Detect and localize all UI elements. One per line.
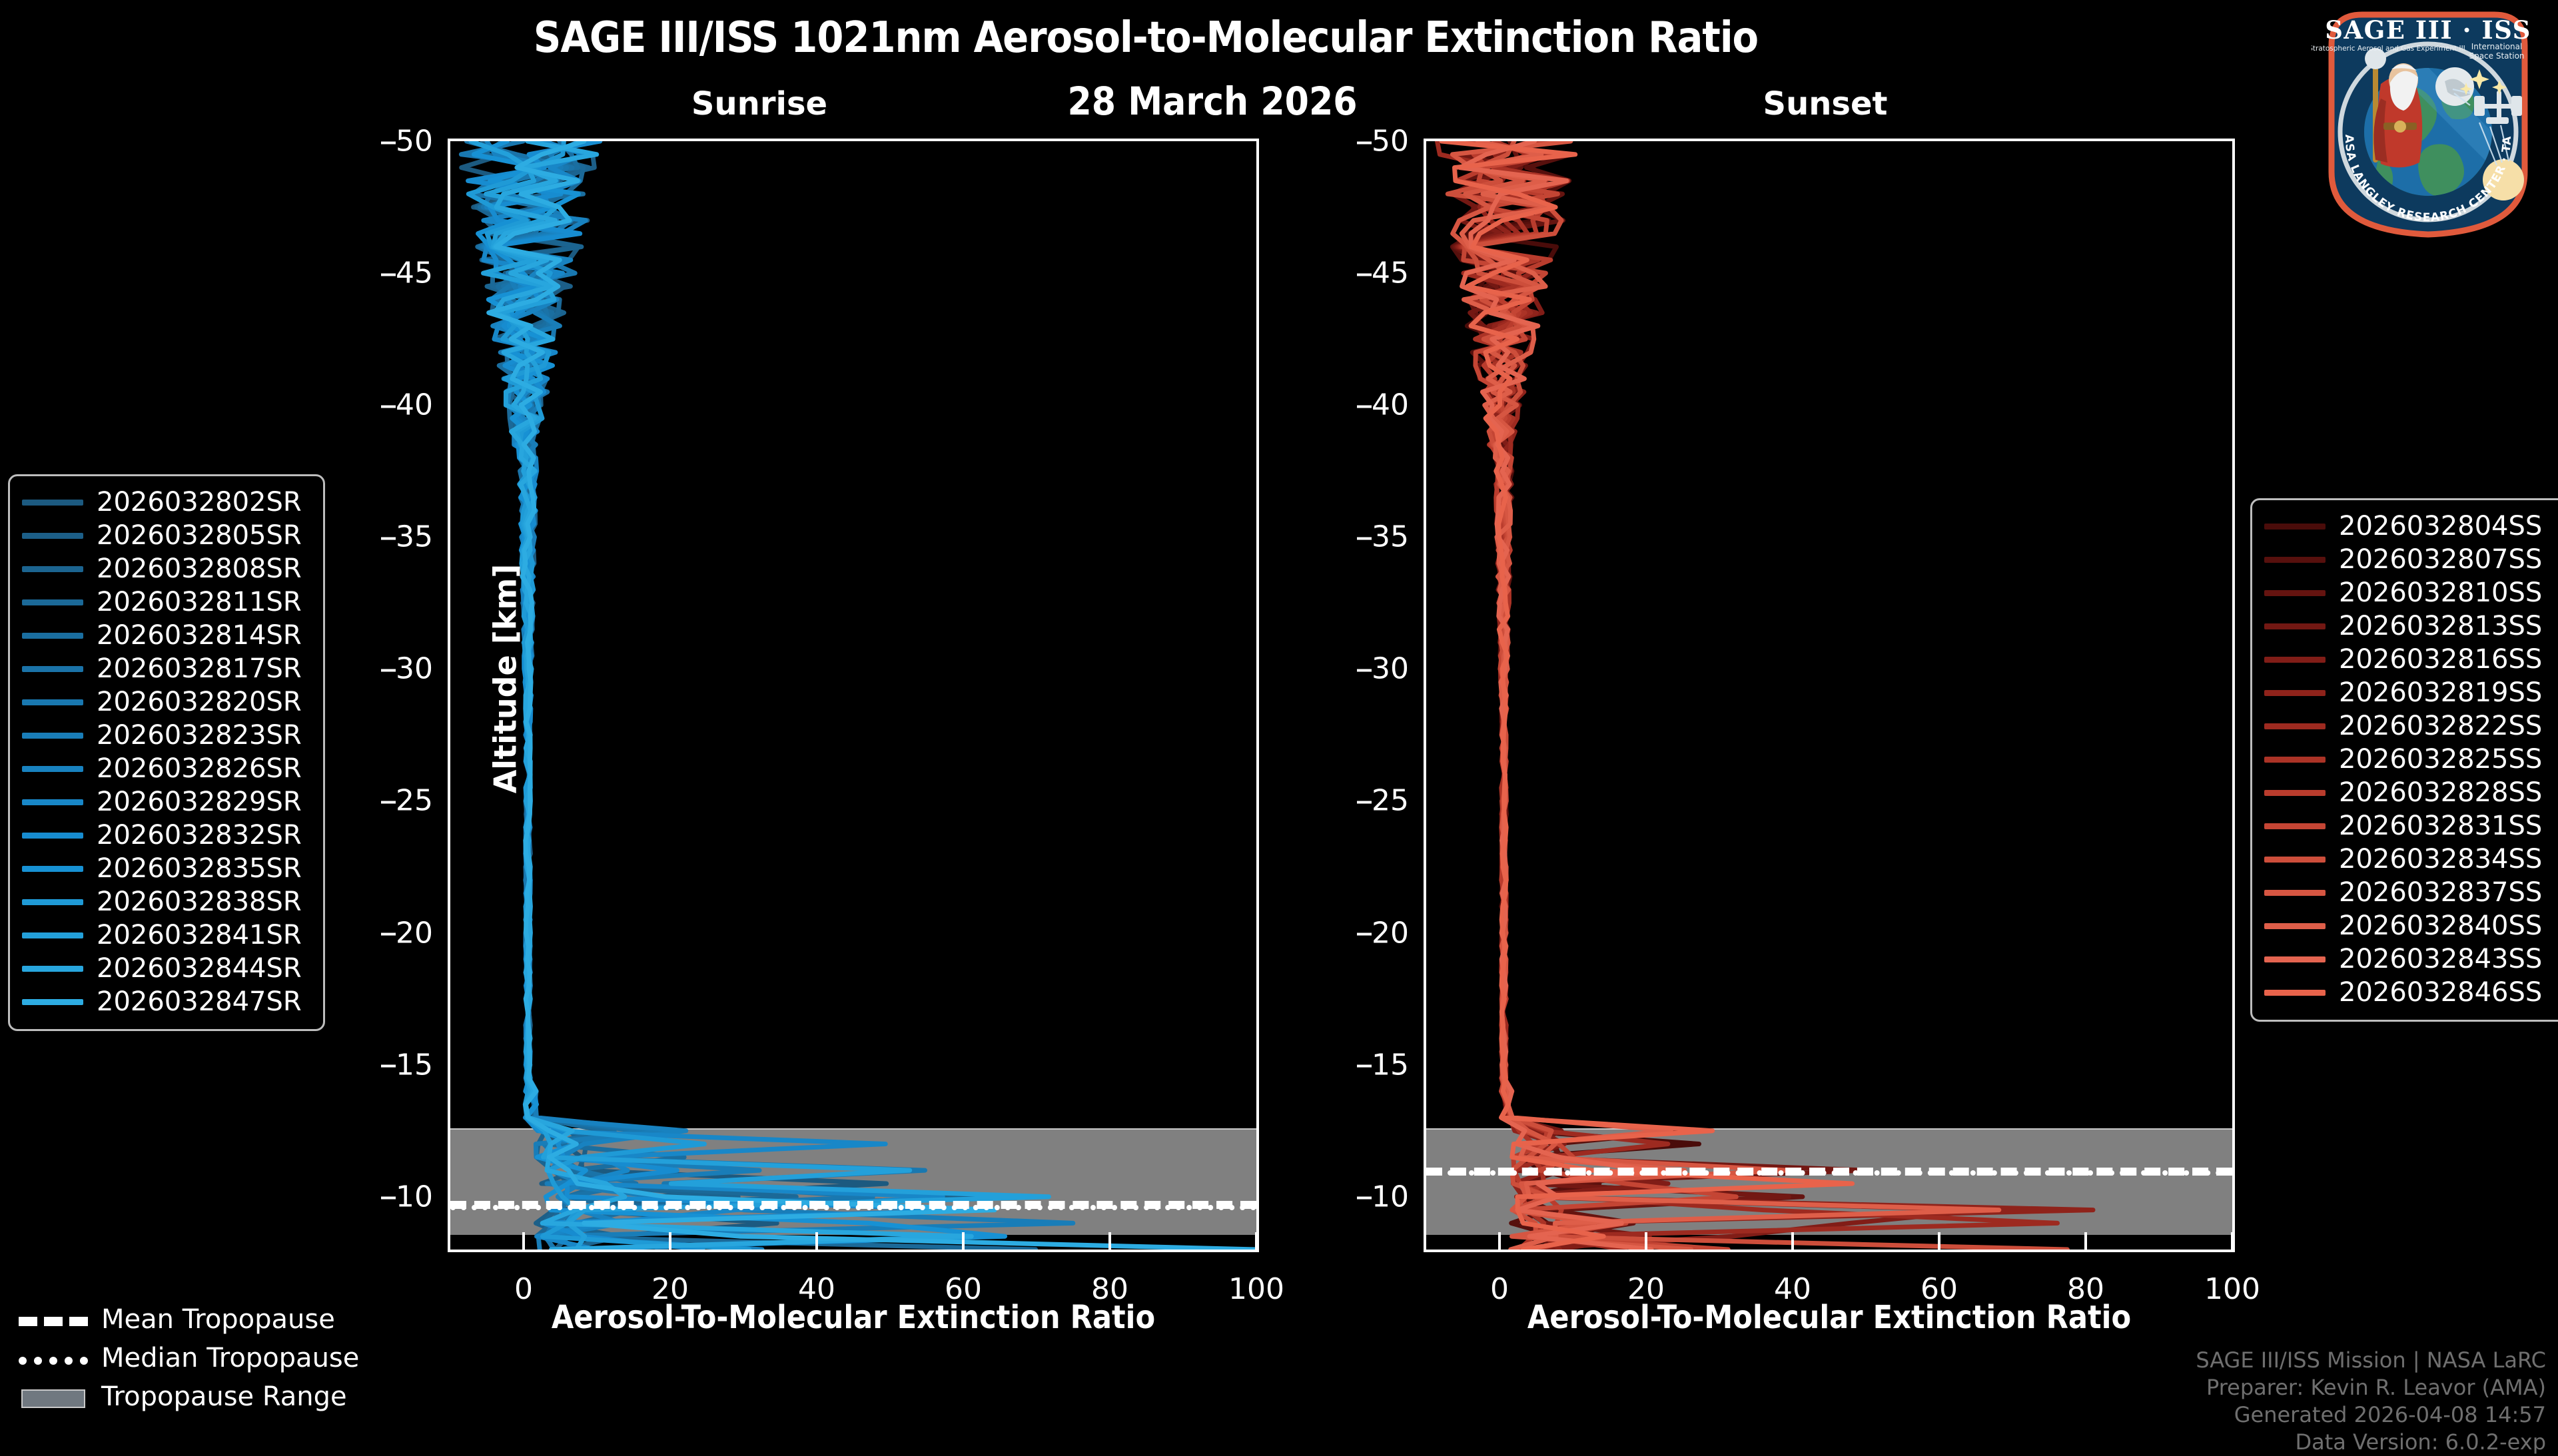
- legend-item-label: 2026032831SS: [2339, 811, 2542, 841]
- legend-item-label: 2026032813SS: [2339, 611, 2542, 641]
- x-tick-20: 20: [1627, 1250, 1665, 1306]
- legend-item-label: 2026032814SR: [97, 620, 302, 651]
- plot-sunrise[interactable]: 101520253035404550 020406080100 Altitude…: [448, 139, 1259, 1252]
- sunset-legend-item[interactable]: 2026032840SS: [2264, 909, 2557, 942]
- sunset-legend-item[interactable]: 2026032816SS: [2264, 643, 2557, 676]
- legend-item-label: 2026032841SR: [97, 920, 302, 950]
- legend-color-swatch: [2264, 923, 2326, 929]
- legend-item-label: 2026032832SR: [97, 820, 302, 851]
- x-tick-80: 80: [2067, 1250, 2104, 1306]
- legend-color-swatch: [22, 866, 83, 872]
- y-tick-20: 20: [1372, 916, 1426, 950]
- extinction-ratio-traces-sunset: [1426, 141, 2232, 1250]
- logo-subtitle-right-2: Space Station: [2469, 51, 2524, 61]
- tropopause-key-range-label: Tropopause Range: [101, 1381, 347, 1412]
- legend-item-label: 2026032828SS: [2339, 777, 2542, 808]
- legend-item-label: 2026032807SS: [2339, 544, 2542, 575]
- legend-item-label: 2026032819SS: [2339, 677, 2542, 708]
- y-tick-45: 45: [1372, 256, 1426, 290]
- legend-item-label: 2026032811SR: [97, 587, 302, 617]
- legend-color-swatch: [22, 699, 83, 705]
- y-tick-15: 15: [1372, 1048, 1426, 1082]
- sunset-legend-item[interactable]: 2026032831SS: [2264, 809, 2557, 843]
- legend-color-swatch: [2264, 690, 2326, 696]
- credit-generated: Generated 2026-04-08 14:57: [2196, 1401, 2546, 1429]
- x-tick-0: 0: [514, 1250, 533, 1306]
- sunrise-legend-item[interactable]: 2026032814SR: [22, 619, 311, 652]
- y-tick-20: 20: [396, 916, 450, 950]
- legend-item-label: 2026032826SR: [97, 753, 302, 784]
- extinction-ratio-traces-sunrise: [450, 141, 1256, 1250]
- legend-item-label: 2026032829SR: [97, 787, 302, 817]
- sunrise-legend-item[interactable]: 2026032820SR: [22, 685, 311, 719]
- legend-color-swatch: [22, 932, 83, 938]
- legend-color-swatch: [2264, 823, 2326, 829]
- y-tick-35: 35: [1372, 520, 1426, 554]
- legend-color-swatch: [22, 566, 83, 572]
- sunrise-legend-item[interactable]: 2026032811SR: [22, 585, 311, 619]
- profile-line: [489, 141, 1256, 1250]
- legend-sunset[interactable]: 2026032804SS2026032807SS2026032810SS2026…: [2250, 498, 2558, 1022]
- legend-color-swatch: [2264, 857, 2326, 863]
- gray-band-icon: [19, 1388, 88, 1405]
- sunset-legend-item[interactable]: 2026032837SS: [2264, 876, 2557, 909]
- legend-color-swatch: [2264, 890, 2326, 896]
- y-tick-10: 10: [1372, 1180, 1426, 1214]
- tropopause-key-mean-label: Mean Tropopause: [101, 1304, 335, 1335]
- legend-color-swatch: [2264, 956, 2326, 962]
- profile-line: [1459, 141, 2093, 1250]
- sunrise-legend-item[interactable]: 2026032829SR: [22, 785, 311, 819]
- sunset-legend-item[interactable]: 2026032804SS: [2264, 510, 2557, 543]
- legend-color-swatch: [22, 666, 83, 672]
- y-tick-15: 15: [396, 1048, 450, 1082]
- legend-item-label: 2026032835SR: [97, 853, 302, 884]
- legend-item-label: 2026032817SR: [97, 653, 302, 684]
- legend-color-swatch: [22, 633, 83, 639]
- y-tick-45: 45: [396, 256, 450, 290]
- y-tick-10: 10: [396, 1180, 450, 1214]
- legend-color-swatch: [22, 766, 83, 772]
- sunset-legend-item[interactable]: 2026032810SS: [2264, 576, 2557, 609]
- y-tick-25: 25: [396, 784, 450, 818]
- panel-title-sunset: Sunset: [1652, 85, 1998, 123]
- sunset-legend-item[interactable]: 2026032819SS: [2264, 676, 2557, 709]
- profile-line: [494, 141, 971, 1250]
- legend-item-label: 2026032816SS: [2339, 644, 2542, 675]
- profile-line: [478, 141, 1036, 1250]
- tropopause-key-range: Tropopause Range: [19, 1377, 432, 1416]
- legend-item-label: 2026032840SS: [2339, 910, 2542, 941]
- x-tick-100: 100: [2204, 1250, 2260, 1306]
- legend-item-label: 2026032823SR: [97, 720, 302, 751]
- sunset-legend-item[interactable]: 2026032813SS: [2264, 609, 2557, 643]
- sunset-legend-item[interactable]: 2026032822SS: [2264, 709, 2557, 743]
- legend-item-label: 2026032810SS: [2339, 577, 2542, 608]
- legend-color-swatch: [2264, 590, 2326, 596]
- legend-item-label: 2026032844SR: [97, 953, 302, 984]
- sunrise-legend-item[interactable]: 2026032802SR: [22, 486, 311, 519]
- legend-item-label: 2026032847SR: [97, 986, 302, 1017]
- y-axis-label-sunrise: Altitude [km]: [487, 564, 523, 794]
- logo-subtitle-right-1: International: [2471, 42, 2523, 51]
- legend-item-label: 2026032834SS: [2339, 844, 2542, 875]
- dashed-line-icon: [19, 1311, 88, 1328]
- legend-color-swatch: [2264, 990, 2326, 996]
- plot-area-sunset: [1426, 141, 2232, 1250]
- sunset-legend-item[interactable]: 2026032825SS: [2264, 743, 2557, 776]
- legend-item-label: 2026032838SR: [97, 887, 302, 917]
- y-tick-40: 40: [396, 388, 450, 422]
- plot-sunset[interactable]: 101520253035404550 020406080100 Altitude…: [1424, 139, 2235, 1252]
- tropopause-key-median: Median Tropopause: [19, 1339, 432, 1377]
- profile-line: [484, 141, 1073, 1250]
- profile-line: [482, 141, 1015, 1250]
- legend-item-label: 2026032825SS: [2339, 744, 2542, 775]
- profile-line: [1462, 141, 1999, 1250]
- sunrise-legend-item[interactable]: 2026032838SR: [22, 885, 311, 918]
- legend-item-label: 2026032843SS: [2339, 944, 2542, 974]
- logo-title: SAGE III · ISS: [2325, 15, 2531, 45]
- legend-item-label: 2026032837SS: [2339, 877, 2542, 908]
- tropopause-key-median-label: Median Tropopause: [101, 1343, 359, 1373]
- sunrise-legend-item[interactable]: 2026032805SR: [22, 519, 311, 552]
- profile-line: [1457, 141, 1986, 1250]
- median-tropopause-line-sunset: [1426, 1170, 2232, 1176]
- credits-block: SAGE III/ISS Mission | NASA LaRC Prepare…: [2196, 1347, 2546, 1456]
- x-tick-60: 60: [945, 1250, 982, 1306]
- legend-color-swatch: [2264, 524, 2326, 530]
- sunrise-legend-item[interactable]: 2026032832SR: [22, 819, 311, 852]
- legend-color-swatch: [22, 533, 83, 539]
- sunrise-legend-item[interactable]: 2026032835SR: [22, 852, 311, 885]
- legend-color-swatch: [22, 733, 83, 739]
- sunset-legend-item[interactable]: 2026032834SS: [2264, 843, 2557, 876]
- x-axis-label-sunrise: Aerosol-To-Molecular Extinction Ratio: [448, 1299, 1259, 1336]
- legend-item-label: 2026032820SR: [97, 687, 302, 717]
- page-date: 28 March 2026: [973, 79, 1452, 124]
- x-tick-40: 40: [798, 1250, 835, 1306]
- y-tick-50: 50: [1372, 125, 1426, 159]
- page-title: SAGE III/ISS 1021nm Aerosol-to-Molecular…: [0, 13, 2292, 63]
- plot-area-sunrise: [450, 141, 1256, 1250]
- median-tropopause-line-sunrise: [450, 1205, 1256, 1210]
- legend-color-swatch: [2264, 623, 2326, 629]
- x-tick-20: 20: [651, 1250, 689, 1306]
- x-tick-80: 80: [1091, 1250, 1128, 1306]
- x-tick-60: 60: [1920, 1250, 1958, 1306]
- legend-color-swatch: [2264, 557, 2326, 563]
- sunset-legend-item[interactable]: 2026032846SS: [2264, 976, 2557, 1009]
- tropopause-key-mean: Mean Tropopause: [19, 1300, 432, 1339]
- legend-color-swatch: [2264, 790, 2326, 796]
- logo-subtitle-left: Stratospheric Aerosol and Gas Experiment…: [2312, 45, 2465, 53]
- y-tick-50: 50: [396, 125, 450, 159]
- legend-color-swatch: [2264, 657, 2326, 663]
- legend-color-swatch: [22, 966, 83, 972]
- x-axis-label-sunset: Aerosol-To-Molecular Extinction Ratio: [1424, 1299, 2235, 1336]
- legend-item-label: 2026032808SR: [97, 553, 302, 584]
- legend-color-swatch: [2264, 757, 2326, 763]
- profile-line: [1438, 141, 2058, 1250]
- x-tick-40: 40: [1774, 1250, 1811, 1306]
- sage-iii-iss-mission-patch-logo: SAGE III · ISS Stratospheric Aerosol and…: [2312, 5, 2545, 238]
- sunset-legend-item[interactable]: 2026032843SS: [2264, 942, 2557, 976]
- sunrise-legend-item[interactable]: 2026032844SR: [22, 952, 311, 985]
- sunrise-legend-item[interactable]: 2026032847SR: [22, 985, 311, 1018]
- credit-data-version: Data Version: 6.0.2-exp: [2196, 1429, 2546, 1456]
- sunrise-legend-item[interactable]: 2026032808SR: [22, 552, 311, 585]
- sunset-legend-item[interactable]: 2026032828SS: [2264, 776, 2557, 809]
- y-tick-25: 25: [1372, 784, 1426, 818]
- x-tick-0: 0: [1490, 1250, 1509, 1306]
- panel-title-sunrise: Sunrise: [586, 85, 933, 123]
- legend-color-swatch: [22, 599, 83, 605]
- legend-color-swatch: [22, 799, 83, 805]
- sunrise-legend-item[interactable]: 2026032817SR: [22, 652, 311, 685]
- sunrise-legend-item[interactable]: 2026032823SR: [22, 719, 311, 752]
- profile-line: [1442, 141, 1853, 1250]
- credit-preparer: Preparer: Kevin R. Leavor (AMA): [2196, 1374, 2546, 1401]
- tropopause-key: Mean Tropopause Median Tropopause Tropop…: [19, 1300, 432, 1416]
- y-tick-35: 35: [396, 520, 450, 554]
- legend-color-swatch: [2264, 723, 2326, 729]
- legend-item-label: 2026032802SR: [97, 487, 302, 518]
- y-tick-30: 30: [1372, 652, 1426, 686]
- legend-item-label: 2026032804SS: [2339, 511, 2542, 542]
- legend-color-swatch: [22, 833, 83, 839]
- legend-color-swatch: [22, 899, 83, 905]
- sunrise-legend-item[interactable]: 2026032841SR: [22, 918, 311, 952]
- credit-mission: SAGE III/ISS Mission | NASA LaRC: [2196, 1347, 2546, 1374]
- legend-color-swatch: [22, 999, 83, 1005]
- x-tick-100: 100: [1228, 1250, 1284, 1306]
- dotted-line-icon: [19, 1349, 88, 1367]
- sunrise-legend-item[interactable]: 2026032826SR: [22, 752, 311, 785]
- y-tick-30: 30: [396, 652, 450, 686]
- y-tick-40: 40: [1372, 388, 1426, 422]
- legend-item-label: 2026032846SS: [2339, 977, 2542, 1008]
- legend-color-swatch: [22, 500, 83, 506]
- sunset-legend-item[interactable]: 2026032807SS: [2264, 543, 2557, 576]
- legend-item-label: 2026032822SS: [2339, 711, 2542, 741]
- legend-item-label: 2026032805SR: [97, 520, 302, 551]
- legend-sunrise[interactable]: 2026032802SR2026032805SR2026032808SR2026…: [8, 474, 325, 1031]
